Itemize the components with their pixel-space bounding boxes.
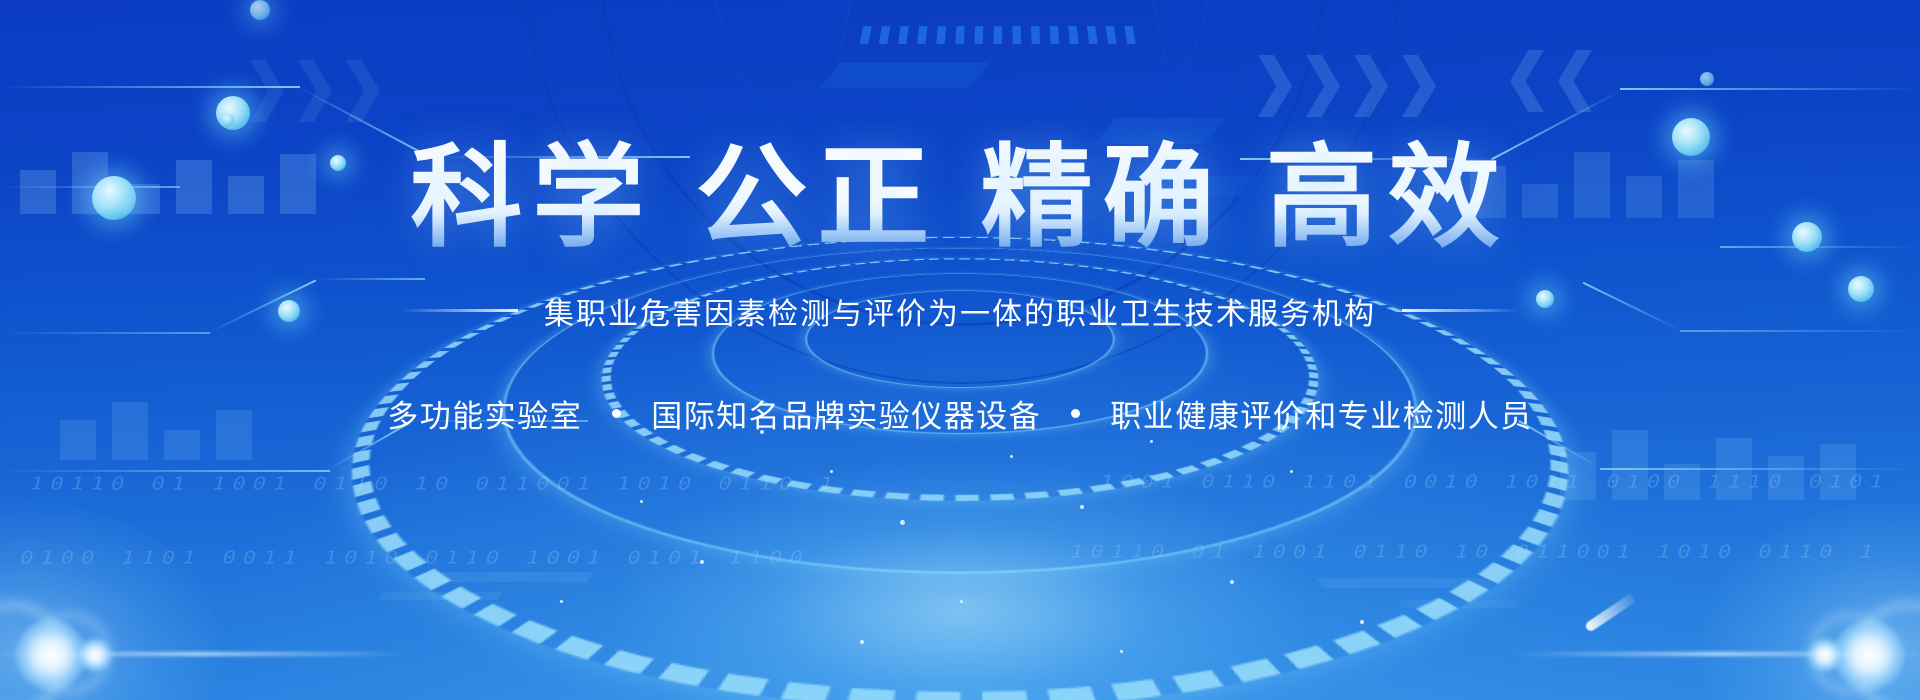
feature-item-3: 职业健康评价和专业检测人员 — [1110, 391, 1533, 436]
feature-item-2: 国际知名品牌实验仪器设备 — [651, 391, 1041, 436]
subtitle-row: 集职业危害因素检测与评价为一体的职业卫生技术服务机构 — [400, 289, 1520, 333]
feature-list: 多功能实验室 国际知名品牌实验仪器设备 职业健康评价和专业检测人员 — [387, 391, 1533, 436]
page-title: 科学 公正 精确 高效 — [410, 138, 1509, 259]
bullet-separator-icon — [612, 409, 621, 418]
feature-item-1: 多功能实验室 — [387, 391, 582, 436]
promo-banner: 10110 01 1001 0110 10 011001 1010 0110 1… — [0, 0, 1920, 700]
divider-right — [1402, 309, 1520, 312]
bullet-separator-icon — [1071, 409, 1080, 418]
banner-content: 科学 公正 精确 高效 集职业危害因素检测与评价为一体的职业卫生技术服务机构 多… — [0, 0, 1920, 700]
subtitle-text: 集职业危害因素检测与评价为一体的职业卫生技术服务机构 — [544, 289, 1376, 333]
divider-left — [400, 309, 518, 312]
